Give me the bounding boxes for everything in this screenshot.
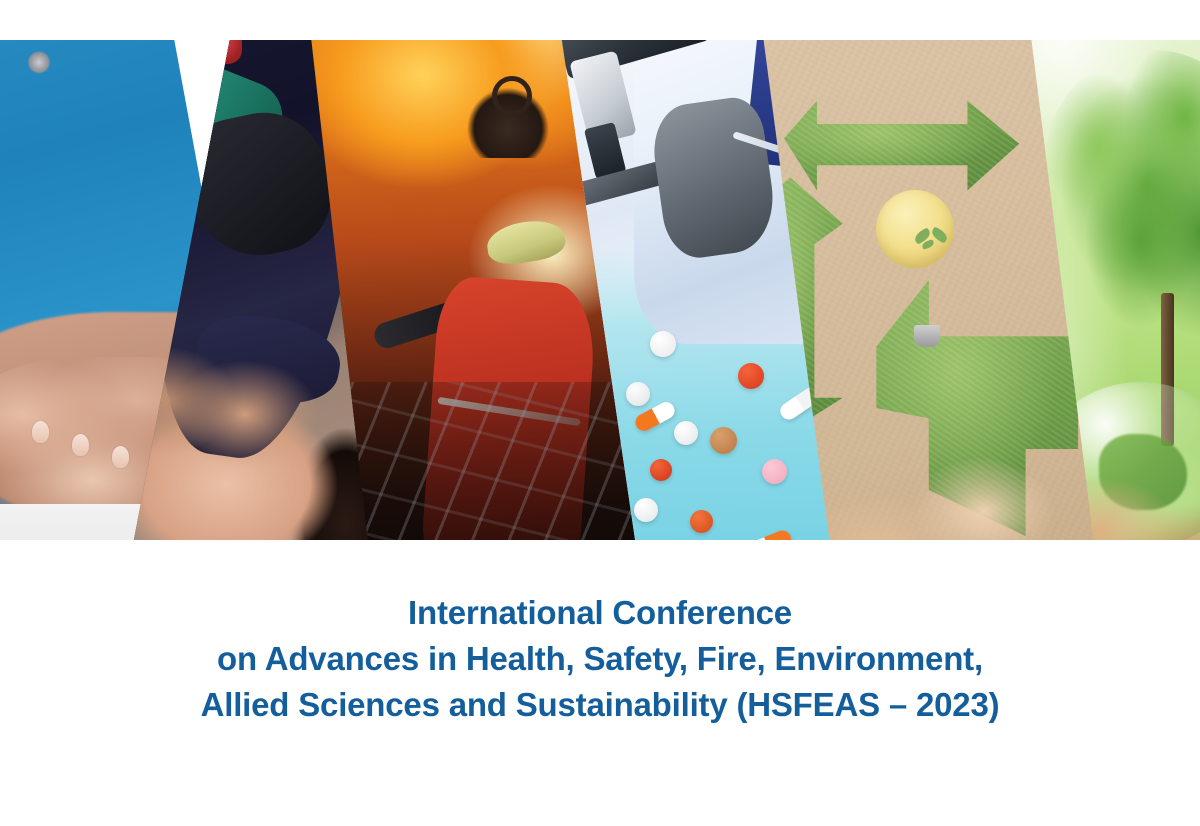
pill-orange-round	[650, 459, 672, 481]
fingernail	[32, 421, 49, 443]
title-line-1: International Conference	[0, 590, 1200, 636]
conference-banner-collage	[0, 0, 1200, 560]
banner-bottom-whitespace	[0, 540, 1200, 560]
banner-top-whitespace	[0, 0, 1200, 40]
conference-title: International Conference on Advances in …	[0, 590, 1200, 729]
pill-white-round	[634, 498, 658, 522]
pill-pink-round	[762, 459, 787, 484]
pill-orange-round	[738, 363, 764, 389]
title-line-3: Allied Sciences and Sustainability (HSFE…	[0, 682, 1200, 728]
pill-white-round	[674, 421, 698, 445]
title-line-2: on Advances in Health, Safety, Fire, Env…	[0, 636, 1200, 682]
pill-orange-round	[690, 510, 713, 533]
pill-tan-round	[710, 427, 737, 454]
plant-sprout-icon	[918, 229, 948, 259]
recycle-arrow-top	[784, 101, 1019, 191]
lightbulb-base	[914, 325, 940, 347]
industrial-valve	[466, 88, 550, 158]
pill-white-round	[650, 331, 676, 357]
fingernail	[112, 446, 129, 468]
pill-white-round	[626, 382, 650, 406]
firefighter-helmet	[485, 217, 568, 269]
fingernail	[72, 434, 89, 456]
